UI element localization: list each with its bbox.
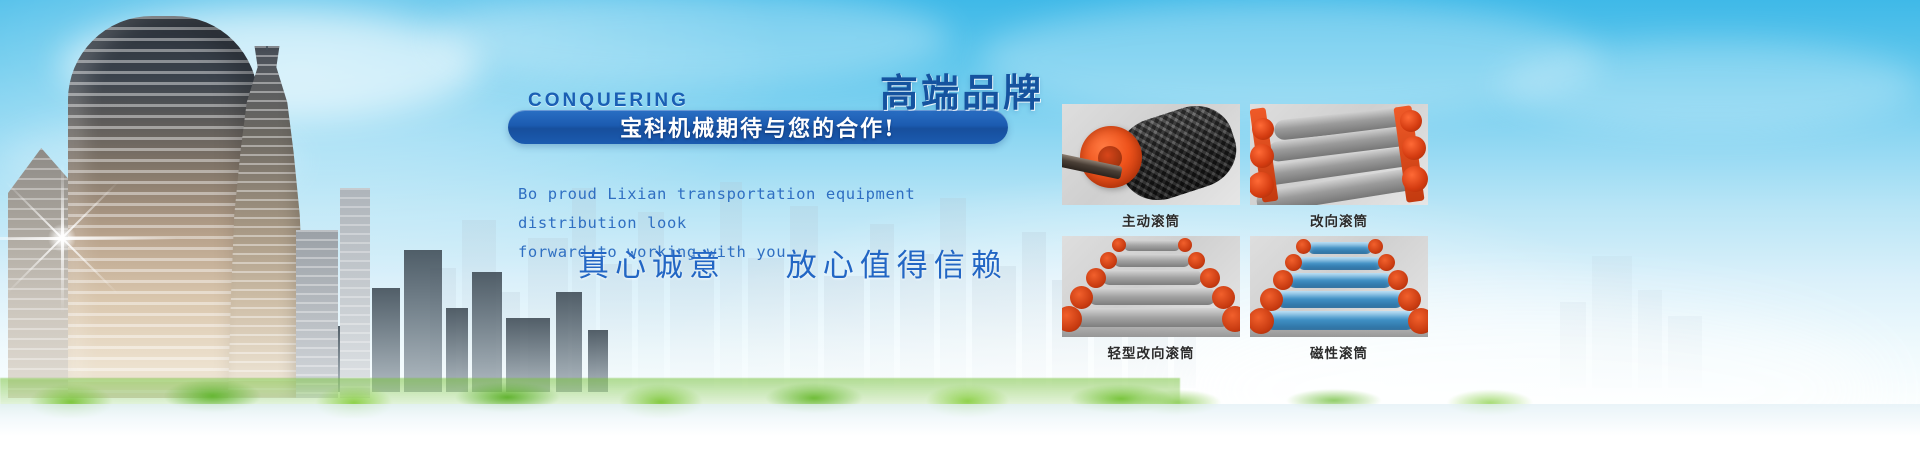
promo-banner: CONQUERING 宝科机械期待与您的合作! 高端品牌 Bo proud Li… xyxy=(0,0,1920,450)
cloud-shape xyxy=(430,0,950,85)
ground-fade xyxy=(0,404,1920,450)
product-cell[interactable]: 轻型改向滚筒 xyxy=(1062,236,1240,362)
product-cell[interactable]: 改向滚筒 xyxy=(1250,104,1428,230)
english-line-1: Bo proud Lixian transportation equipment… xyxy=(518,180,1038,238)
product-caption: 改向滚筒 xyxy=(1250,205,1428,230)
slogan-part-2: 放心值得信赖 xyxy=(786,248,1008,284)
cloud-shape xyxy=(1500,40,1920,130)
slogan-part-1: 真心诚意 xyxy=(578,248,726,284)
product-grid: 主动滚筒 改向滚筒 xyxy=(1062,104,1428,362)
eyebrow-text: CONQUERING xyxy=(528,90,689,112)
light-bend-drum-image xyxy=(1062,236,1240,337)
building-right-a xyxy=(296,230,338,398)
product-caption: 磁性滚筒 xyxy=(1250,337,1428,362)
drive-drum-image xyxy=(1062,104,1240,205)
product-caption: 轻型改向滚筒 xyxy=(1062,337,1240,362)
product-caption: 主动滚筒 xyxy=(1062,205,1240,230)
slogan: 真心诚意 放心值得信赖 xyxy=(578,240,1008,285)
magnetic-drum-image xyxy=(1250,236,1428,337)
product-cell[interactable]: 磁性滚筒 xyxy=(1250,236,1428,362)
product-cell[interactable]: 主动滚筒 xyxy=(1062,104,1240,230)
building-main-tower xyxy=(68,16,258,398)
bend-drum-image xyxy=(1250,104,1428,205)
building-right-b xyxy=(340,188,370,398)
cloud-shape xyxy=(980,0,1600,120)
brand-title: 高端品牌 xyxy=(880,62,1044,117)
